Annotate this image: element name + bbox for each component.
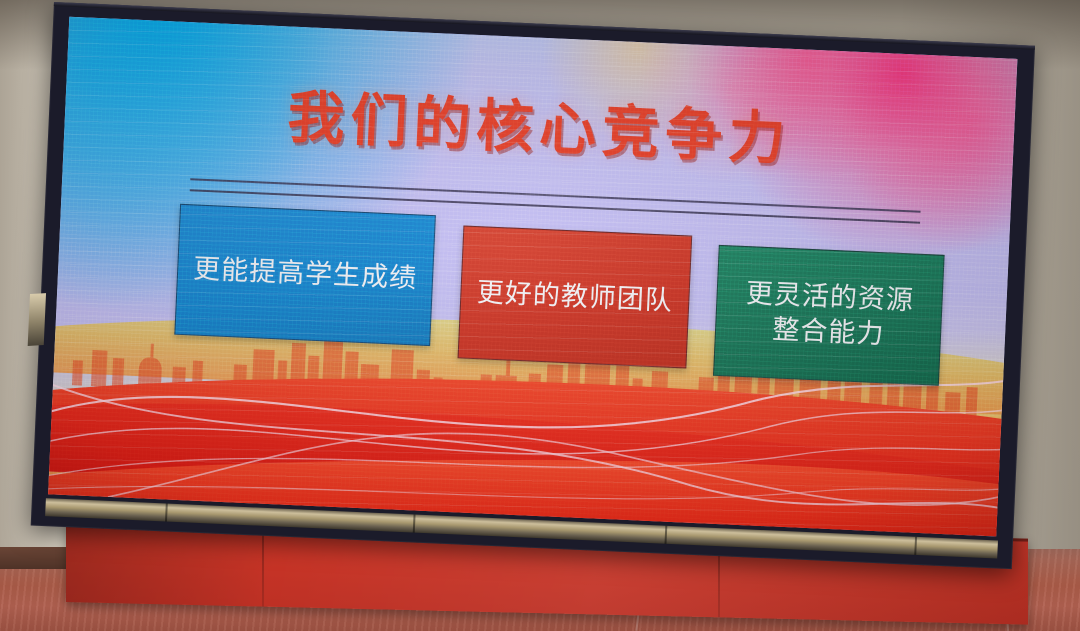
floor-skirting-left bbox=[0, 547, 72, 569]
trim-seam bbox=[665, 526, 668, 544]
slide-title: 我们的核心竞争力 bbox=[64, 62, 1016, 186]
led-wall: 我们的核心竞争力 更能提高学生成绩 更好的教师团队 更灵活的资源整合能力 bbox=[31, 2, 1035, 569]
competency-card-3-label: 更灵活的资源整合能力 bbox=[730, 275, 929, 355]
trim-seam bbox=[413, 515, 416, 533]
auditorium-scene: 我们的核心竞争力 更能提高学生成绩 更好的教师团队 更灵活的资源整合能力 bbox=[0, 0, 1080, 631]
competency-card-3[interactable]: 更灵活的资源整合能力 bbox=[713, 245, 944, 386]
competency-card-1-label: 更能提高学生成绩 bbox=[192, 252, 417, 298]
trim-seam bbox=[165, 503, 168, 521]
competency-card-2-label: 更好的教师团队 bbox=[476, 275, 673, 319]
presentation-slide: 我们的核心竞争力 更能提高学生成绩 更好的教师团队 更灵活的资源整合能力 bbox=[48, 17, 1017, 537]
trim-seam bbox=[914, 537, 917, 555]
competency-card-2[interactable]: 更好的教师团队 bbox=[457, 226, 692, 369]
competency-card-1[interactable]: 更能提高学生成绩 bbox=[174, 203, 436, 345]
wall-mount-bracket bbox=[28, 293, 46, 346]
led-screen-surface: 我们的核心竞争力 更能提高学生成绩 更好的教师团队 更灵活的资源整合能力 bbox=[48, 17, 1017, 537]
